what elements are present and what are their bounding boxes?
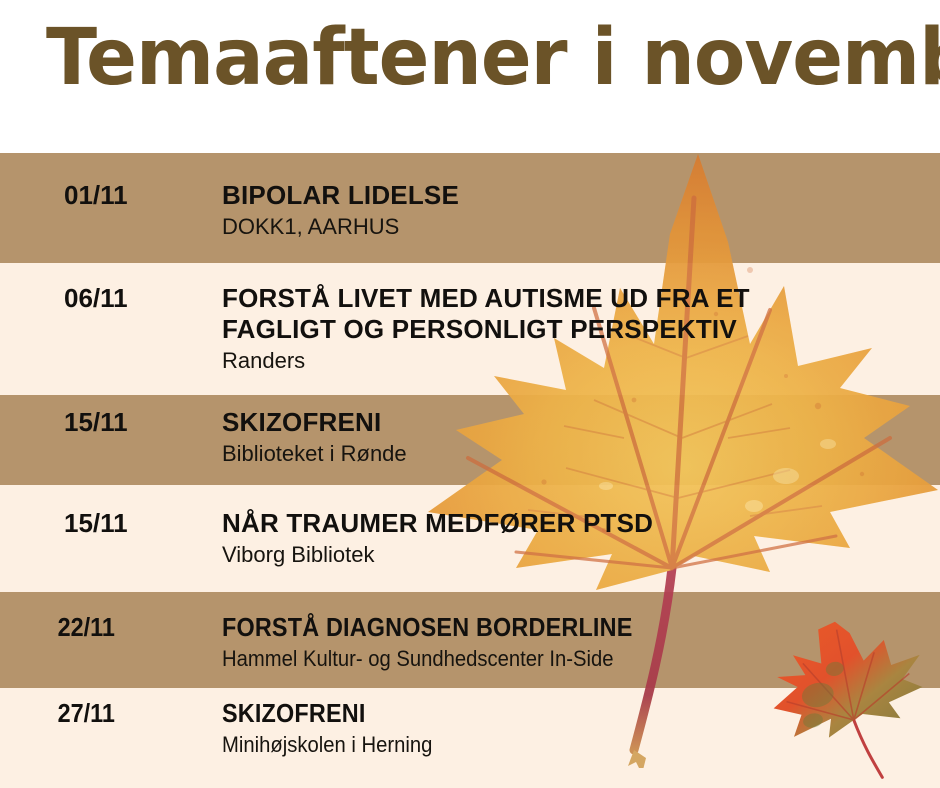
entry-date: 15/11 (0, 407, 160, 438)
entry-venue: Hammel Kultur- og Sundhedscenter In-Side (222, 645, 866, 673)
entry-body: SKIZOFRENI Biblioteket i Rønde (222, 407, 922, 468)
entry-date: 22/11 (0, 612, 144, 643)
entry-venue: Biblioteket i Rønde (222, 440, 922, 468)
entry-body: BIPOLAR LIDELSE DOKK1, AARHUS (222, 180, 922, 241)
entry-date: 15/11 (0, 508, 160, 539)
poster-header: Temaaftener i november (0, 0, 940, 153)
poster-canvas: Temaaftener i november 01/11 BIPOLAR LID… (0, 0, 940, 788)
entry-body: FORSTÅ DIAGNOSEN BORDERLINE Hammel Kultu… (222, 612, 922, 673)
entry-title: SKIZOFRENI (222, 698, 852, 729)
entry-venue: Viborg Bibliotek (222, 541, 922, 569)
entry-date: 27/11 (0, 698, 144, 729)
entry-title: FORSTÅ DIAGNOSEN BORDERLINE (222, 612, 852, 643)
entry-body: SKIZOFRENI Minihøjskolen i Herning (222, 698, 922, 759)
entry-date: 06/11 (0, 283, 160, 314)
entry-title: FORSTÅ LIVET MED AUTISME UD FRA ET FAGLI… (222, 283, 922, 345)
entry-venue: DOKK1, AARHUS (222, 213, 922, 241)
entry-title: NÅR TRAUMER MEDFØRER PTSD (222, 508, 922, 539)
entry-date: 01/11 (0, 180, 160, 211)
entry-venue: Randers (222, 347, 922, 375)
entry-title: BIPOLAR LIDELSE (222, 180, 922, 211)
entry-body: NÅR TRAUMER MEDFØRER PTSD Viborg Bibliot… (222, 508, 922, 569)
page-title: Temaaftener i november (46, 18, 940, 100)
entry-body: FORSTÅ LIVET MED AUTISME UD FRA ET FAGLI… (222, 283, 922, 375)
entry-title: SKIZOFRENI (222, 407, 922, 438)
entry-venue: Minihøjskolen i Herning (222, 731, 866, 759)
